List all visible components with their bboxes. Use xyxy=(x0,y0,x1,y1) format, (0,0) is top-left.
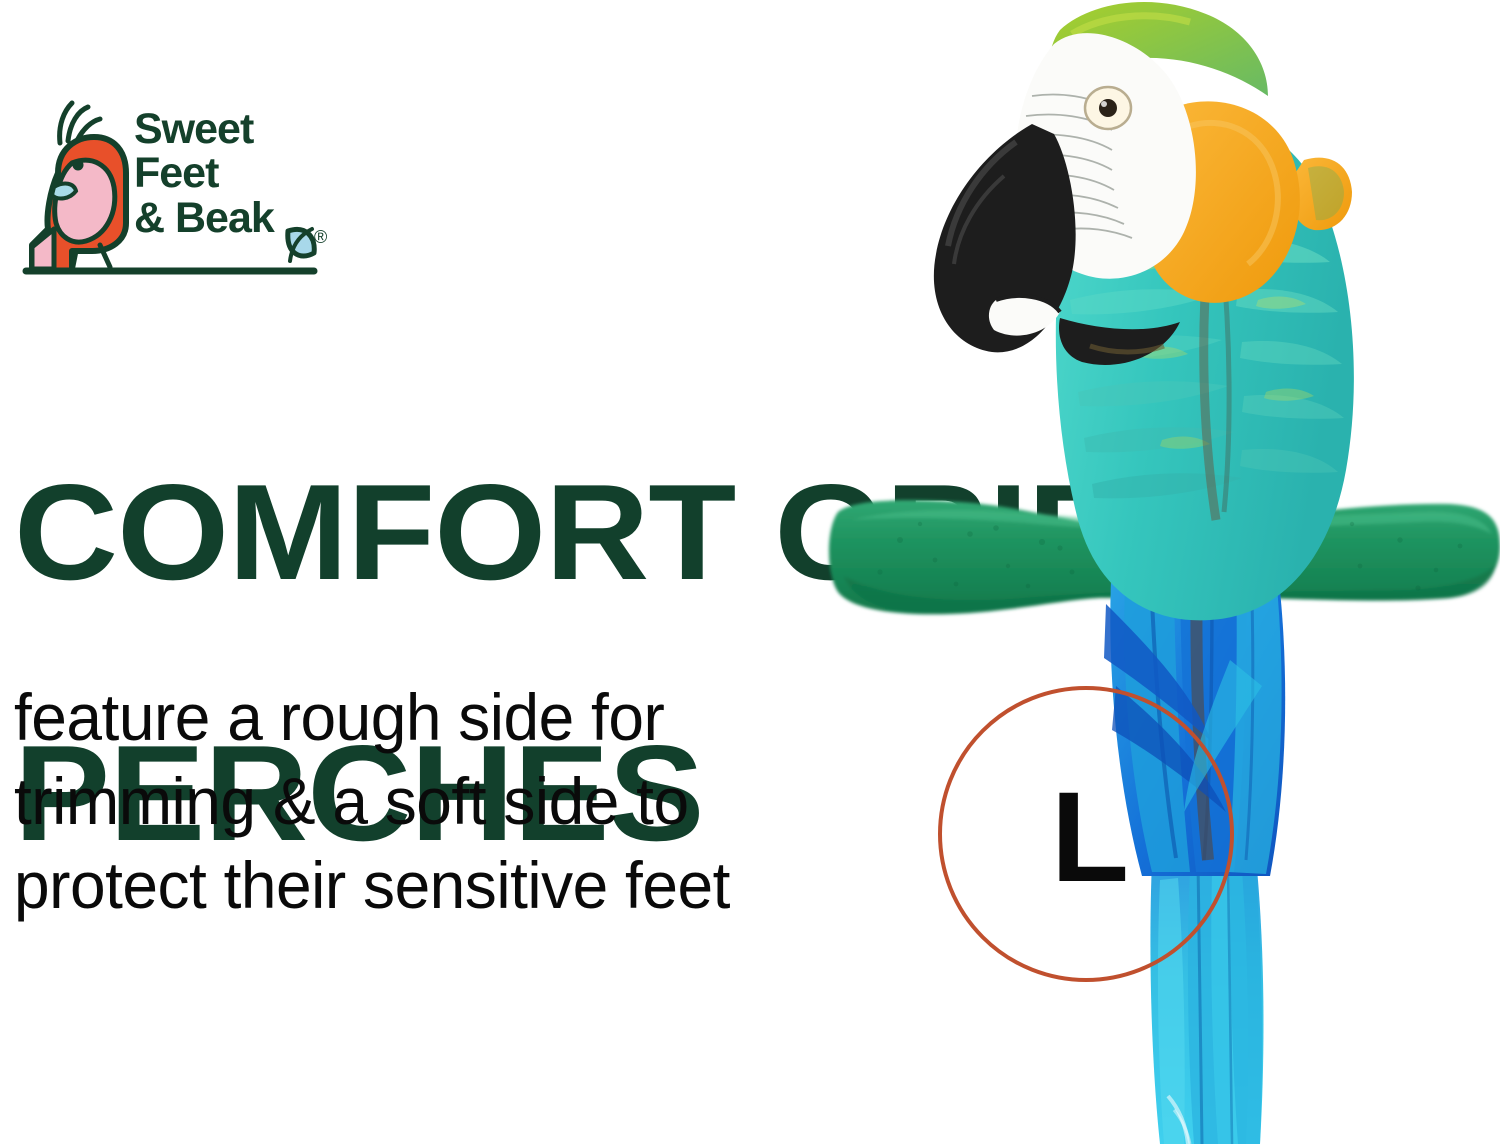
size-badge: L xyxy=(938,686,1234,982)
brand-name-line-3: & Beak xyxy=(134,194,274,242)
subcopy: feature a rough side for trimming & a so… xyxy=(14,676,829,927)
subcopy-line-2: trimming & a soft side to xyxy=(14,760,829,844)
brand-logo: Sweet Feet & Beak ® xyxy=(14,95,344,275)
subcopy-line-1: feature a rough side for xyxy=(14,676,829,760)
size-badge-label: L xyxy=(942,690,1238,986)
product-feature-poster: Sweet Feet & Beak ® COMFORT GRIP PERCHES… xyxy=(0,0,1500,1144)
registered-trademark-symbol: ® xyxy=(314,227,327,248)
brand-name-line-2: Feet xyxy=(134,149,218,197)
subcopy-line-3: protect their sensitive feet xyxy=(14,844,829,928)
brand-name-line-1: Sweet xyxy=(134,105,253,153)
